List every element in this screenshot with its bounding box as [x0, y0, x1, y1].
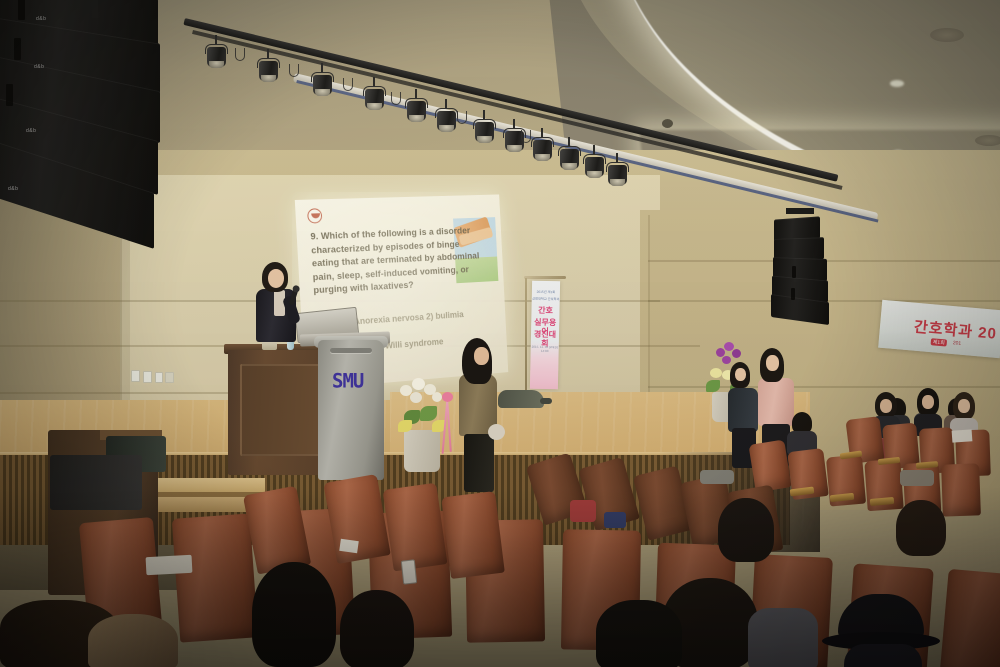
lectern-podium: SMU	[318, 340, 384, 480]
banner-title-line-1: 간호	[531, 306, 559, 316]
orchid-bloom	[410, 392, 422, 403]
audience-head	[896, 500, 946, 556]
speaker-handle	[791, 288, 795, 300]
auditorium-photo: d&b d&b d&b d&b 9. Which of the followin…	[0, 0, 1000, 667]
auditorium-seat[interactable]	[441, 491, 505, 579]
blue-bag	[604, 512, 626, 528]
cable-loop	[521, 130, 531, 143]
speaker-handle	[18, 0, 25, 20]
paper-sheet	[339, 539, 358, 553]
student-face	[766, 355, 779, 371]
flower-leaf	[420, 406, 437, 421]
stage-spotlight	[313, 70, 332, 96]
cable-loop	[289, 64, 299, 77]
flower-leaf-yellow	[398, 420, 412, 432]
ceiling-vent	[975, 135, 1000, 146]
speaker-rigging-bar	[786, 208, 814, 214]
flower-leaf	[706, 380, 720, 392]
audience-member	[748, 608, 818, 667]
podium-handle-slot	[330, 348, 372, 353]
stage-step-lower	[140, 496, 260, 512]
cable-loop	[235, 48, 245, 61]
stage-spotlight	[533, 135, 552, 161]
stage-spotlight	[259, 56, 278, 82]
wall-data-port[interactable]	[165, 372, 174, 383]
speaker-brand-logo: d&b	[34, 64, 44, 70]
banner-date: 2015. 11. 04 (WED) 14:00	[531, 345, 559, 354]
purple-orchid-bloom	[732, 349, 741, 358]
banner-hanging-rod	[524, 276, 566, 279]
banner-pole	[525, 278, 527, 398]
speaker-rigging-bar	[92, 0, 98, 18]
wall-switch-plate[interactable]	[143, 371, 152, 383]
banner-subtitle-1: 2015년 제1회	[532, 289, 560, 295]
flower-pot-white	[404, 430, 440, 472]
banner-badge-year: 201	[953, 340, 962, 347]
auditorium-seat[interactable]	[383, 483, 448, 572]
student-face	[735, 368, 746, 381]
audience-member-facing	[952, 392, 976, 434]
audience-member-foreground	[88, 614, 178, 667]
table-front-panel	[240, 364, 326, 456]
slide-question-text: 9. Which of the following is a disorder …	[310, 223, 485, 297]
stage-lighting-truss	[185, 18, 845, 218]
contestant-held-object	[488, 424, 505, 440]
speaker-handle	[792, 266, 796, 278]
ceiling-spot-glow	[890, 80, 904, 87]
stage-spotlight	[407, 96, 426, 122]
podium-logo: SMU	[332, 369, 363, 392]
stage-spotlight	[437, 106, 456, 132]
auditorium-seat[interactable]	[748, 439, 791, 492]
auditorium-seat[interactable]	[941, 463, 981, 516]
paper-sheet	[146, 555, 193, 575]
line-array-speaker-left: d&b d&b d&b d&b	[0, 0, 173, 224]
cable-loop	[457, 111, 467, 124]
wall-seam	[648, 386, 1000, 388]
wall-switch-plate[interactable]	[131, 370, 140, 382]
audience-member	[596, 600, 682, 667]
truss-bar-secondary	[192, 30, 842, 190]
floor-bag	[700, 470, 734, 484]
truss-bar	[183, 18, 838, 182]
audience-member	[790, 412, 814, 448]
banner-badge: 제1회	[931, 338, 948, 346]
foreground-audience-head	[340, 590, 414, 667]
stage-spotlight	[207, 42, 226, 68]
presenter-face	[268, 269, 284, 288]
line-array-speaker-right	[770, 218, 840, 348]
smartphone-held[interactable]	[401, 559, 417, 584]
orchid-bloom	[432, 392, 442, 402]
speaker-brand-logo: d&b	[26, 128, 36, 134]
cable-loop	[391, 92, 401, 105]
stage-spotlight	[365, 84, 384, 110]
audience-member-with-hat	[826, 578, 936, 667]
audience-member-facing	[916, 388, 940, 430]
red-bag	[570, 500, 596, 522]
audience-head	[718, 498, 774, 562]
stage-spotlight	[585, 152, 604, 178]
ceiling-vent	[930, 28, 964, 42]
presenter-at-podium	[262, 262, 308, 348]
yellow-chrysanthemum	[710, 368, 722, 378]
speaker-handle	[14, 38, 21, 60]
speaker-brand-logo: d&b	[8, 186, 18, 192]
contestant-walking	[462, 338, 506, 494]
speaker-brand-logo: d&b	[36, 16, 46, 22]
contestant-pants	[464, 434, 494, 492]
wall-outlet[interactable]	[155, 372, 163, 383]
auditorium-seat-front[interactable]	[939, 569, 1000, 667]
paper-sheet	[952, 429, 973, 442]
pink-sweater	[758, 378, 794, 426]
ribbon-rosette	[442, 392, 453, 402]
dark-jacket	[728, 388, 758, 432]
foreground-audience-head	[252, 562, 336, 667]
bag-strap	[540, 398, 552, 404]
floor-bag	[900, 470, 934, 486]
auditorium-seat-front[interactable]	[172, 513, 258, 642]
contestant-face	[474, 347, 489, 365]
speaker-handle	[6, 84, 13, 106]
stage-spotlight	[608, 160, 627, 186]
event-banner-vertical: 2015년 제1회 상명대학교 간호학과 간호 실무용어 경진대회 2015. …	[530, 281, 560, 390]
banner-subtitle-2: 상명대학교 간호학과	[532, 296, 560, 302]
stage-spotlight	[475, 117, 494, 143]
stage-spotlight	[560, 144, 579, 170]
floor-monitor-speaker	[50, 455, 142, 510]
cable-loop	[343, 78, 353, 91]
audience-shoulders	[844, 644, 922, 667]
